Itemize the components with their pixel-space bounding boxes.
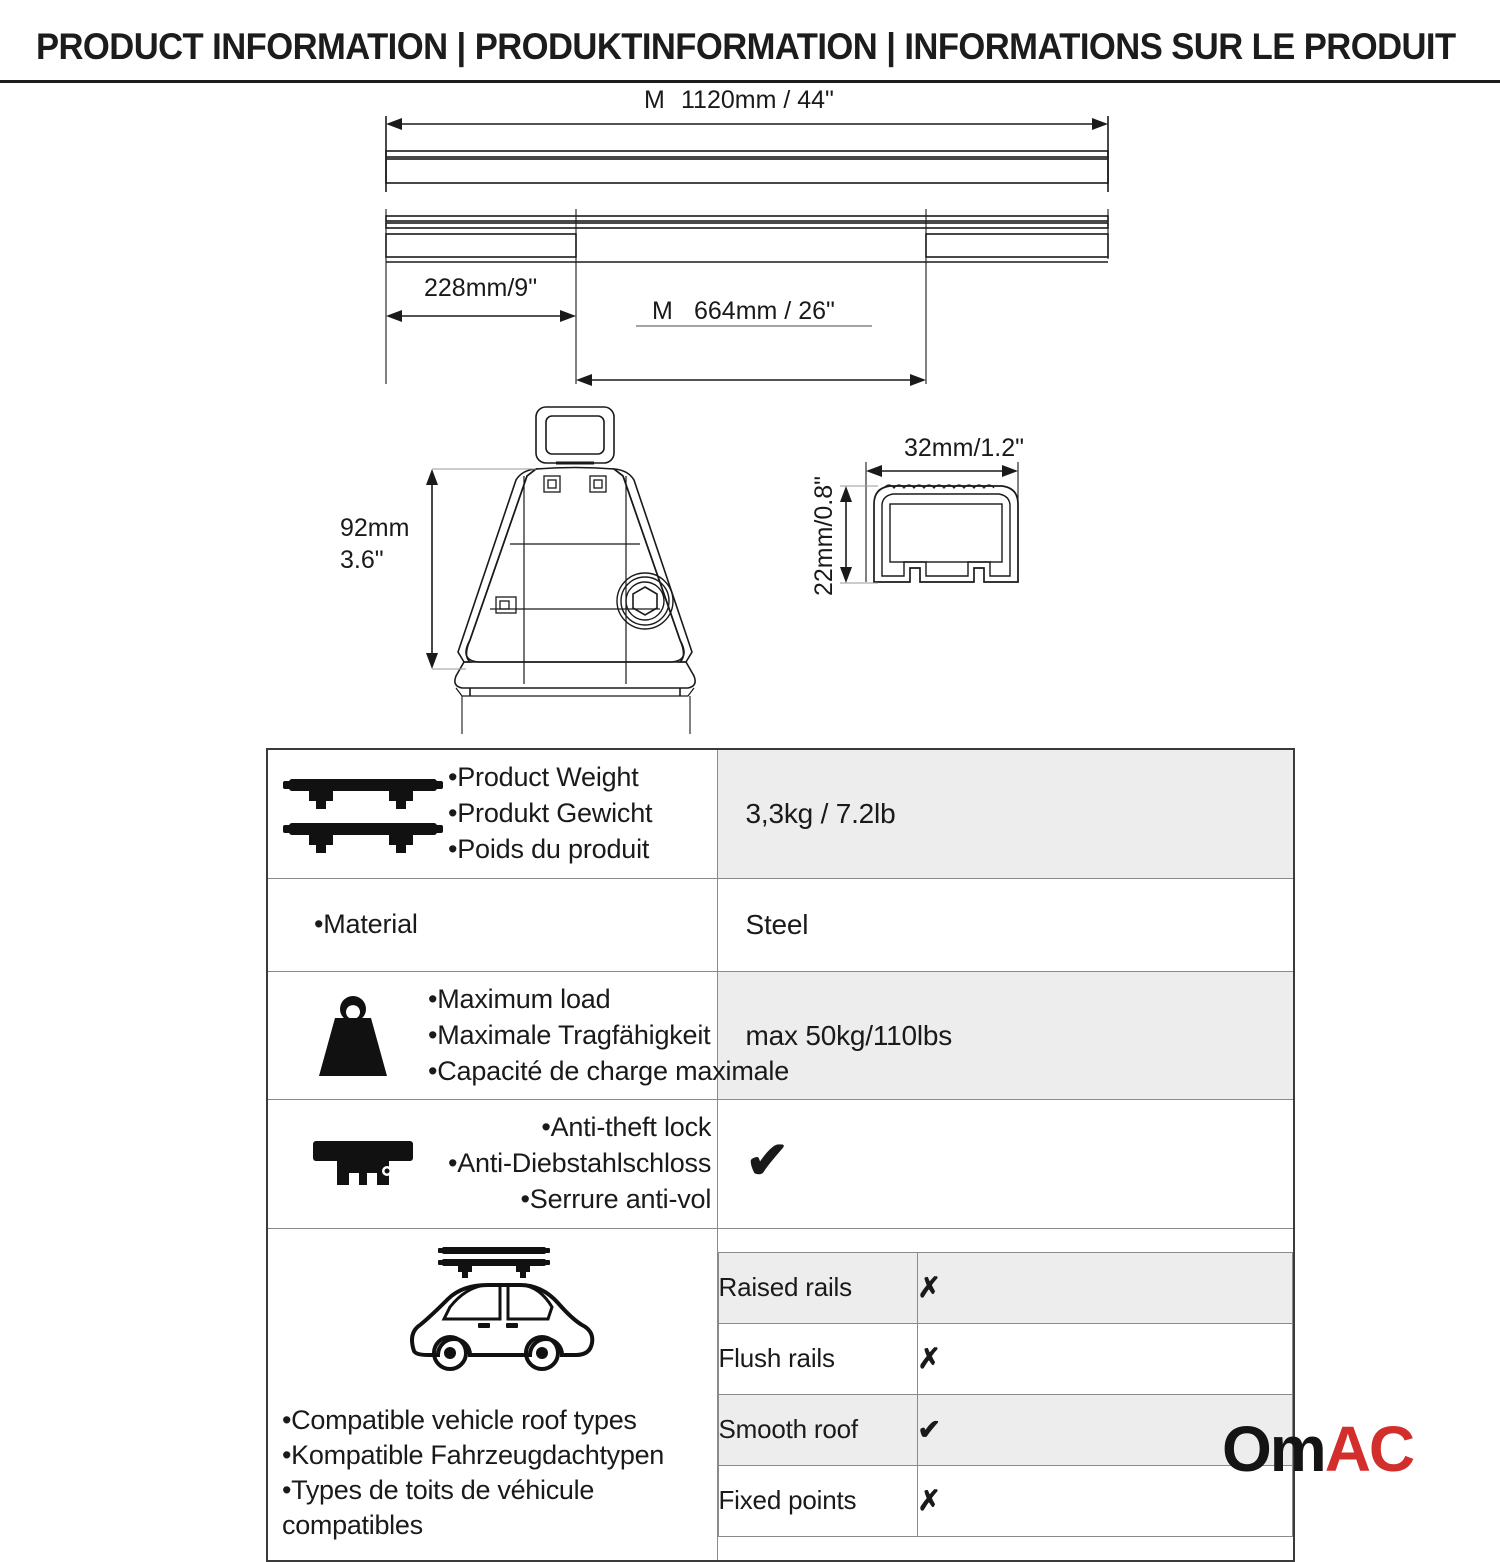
dim-foot-spacing-value: 664mm / 26"	[694, 297, 835, 325]
weight-icon	[278, 992, 428, 1080]
specification-table: •Product Weight •Produkt Gewicht •Poids …	[266, 748, 1295, 1562]
material-label-en: •Material	[314, 907, 711, 943]
page-title: PRODUCT INFORMATION | PRODUKTINFORMATION…	[36, 26, 1373, 68]
lock-labels: •Anti-theft lock •Anti-Diebstahlschloss …	[448, 1110, 711, 1218]
lock-label-cell: •Anti-theft lock •Anti-Diebstahlschloss …	[267, 1100, 717, 1229]
material-labels: •Material	[314, 907, 711, 943]
roof-type-row: Fixed points ✗	[718, 1465, 1293, 1536]
weight-value: 3,3kg / 7.2lb	[718, 788, 1294, 840]
compat-label-fr-cont: compatibles	[282, 1510, 423, 1540]
dim-bar-length-prefix: M	[644, 86, 665, 114]
maxload-value: max 50kg/110lbs	[718, 1010, 1294, 1062]
roof-type-row: Raised rails ✗	[718, 1252, 1293, 1323]
maxload-labels: •Maximum load •Maximale Tragfähigkeit •C…	[428, 982, 789, 1090]
lock-label-de: •Anti-Diebstahlschloss	[448, 1146, 711, 1182]
maxload-label-de: •Maximale Tragfähigkeit	[428, 1018, 789, 1054]
table-row: •Anti-theft lock •Anti-Diebstahlschloss …	[267, 1100, 1294, 1229]
compat-label-en: •Compatible vehicle roof types	[282, 1405, 637, 1435]
weight-value-cell: 3,3kg / 7.2lb	[717, 749, 1294, 878]
lock-label-fr: •Serrure anti-vol	[448, 1182, 711, 1218]
compat-label-de: •Kompatible Fahrzeugdachtypen	[282, 1440, 664, 1470]
maxload-label-en: •Maximum load	[428, 982, 789, 1018]
dim-bar-length-value: 1120mm / 44"	[681, 86, 834, 114]
crossbars-pair-icon	[278, 771, 448, 857]
lock-label-en: •Anti-theft lock	[448, 1110, 711, 1146]
roof-types-cell: Raised rails ✗ Flush rails ✗ Smooth roof…	[717, 1229, 1294, 1561]
roof-type-row: Smooth roof ✔	[718, 1394, 1293, 1465]
weight-label-cell: •Product Weight •Produkt Gewicht •Poids …	[267, 749, 717, 878]
maxload-label-fr: •Capacité de charge maximale	[428, 1054, 789, 1090]
roof-types-table: Raised rails ✗ Flush rails ✗ Smooth roof…	[718, 1252, 1294, 1537]
compat-label-fr: •Types de toits de véhicule	[282, 1475, 594, 1505]
roof-type-name: Flush rails	[718, 1323, 917, 1394]
logo-text-red: AC	[1325, 1413, 1413, 1485]
dim-foot-offset: 228mm/9"	[424, 274, 537, 302]
roof-type-mark-cross-icon: ✗	[917, 1252, 1293, 1323]
technical-drawings: M 1120mm / 44" 228mm/9" M 664mm / 26" 92…	[0, 84, 1500, 734]
lock-value-cell: ✔	[717, 1100, 1294, 1229]
dim-foot-height-line2: 3.6"	[340, 546, 384, 574]
compatibility-labels: •Compatible vehicle roof types •Kompatib…	[282, 1403, 707, 1543]
maxload-label-cell: •Maximum load •Maximale Tragfähigkeit •C…	[267, 971, 717, 1100]
compatibility-label-cell: •Compatible vehicle roof types •Kompatib…	[267, 1229, 717, 1561]
maxload-value-cell: max 50kg/110lbs	[717, 971, 1294, 1100]
dim-profile-height: 22mm/0.8"	[810, 476, 838, 596]
material-value-cell: Steel	[717, 878, 1294, 971]
weight-label-en: •Product Weight	[448, 760, 711, 796]
header-divider	[0, 80, 1500, 83]
material-value: Steel	[718, 899, 1294, 951]
lock-icon	[278, 1131, 448, 1197]
table-row: •Maximum load •Maximale Tragfähigkeit •C…	[267, 971, 1294, 1100]
table-row: •Product Weight •Produkt Gewicht •Poids …	[267, 749, 1294, 878]
roof-type-row: Flush rails ✗	[718, 1323, 1293, 1394]
logo-text-black: Om	[1222, 1413, 1325, 1485]
material-label-cell: •Material	[267, 878, 717, 971]
dim-foot-spacing-prefix: M	[652, 297, 673, 325]
dim-foot-height-line1: 92mm	[340, 514, 409, 542]
roof-type-mark-cross-icon: ✗	[917, 1323, 1293, 1394]
roof-type-name: Smooth roof	[718, 1394, 917, 1465]
dim-profile-width: 32mm/1.2"	[904, 434, 1024, 462]
weight-labels: •Product Weight •Produkt Gewicht •Poids …	[448, 760, 711, 868]
roof-type-name: Raised rails	[718, 1252, 917, 1323]
lock-check-icon: ✔	[718, 1131, 1294, 1197]
table-row: •Compatible vehicle roof types •Kompatib…	[267, 1229, 1294, 1561]
table-row: •Material Steel	[267, 878, 1294, 971]
roof-type-name: Fixed points	[718, 1465, 917, 1536]
omac-logo: OmAC	[1222, 1415, 1413, 1483]
car-with-roofrack-icon	[282, 1235, 707, 1395]
weight-label-fr: •Poids du produit	[448, 832, 711, 868]
weight-label-de: •Produkt Gewicht	[448, 796, 711, 832]
